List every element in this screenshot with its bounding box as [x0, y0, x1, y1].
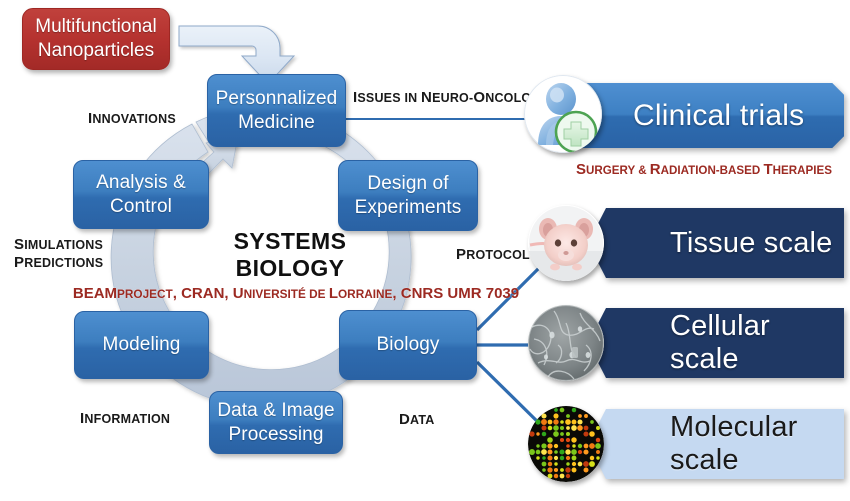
information-rest: NFORMATION: [84, 412, 170, 426]
project-credit-line: BEAMPROJECT, CRAN, UNIVERSITÉ DE LORRAIN…: [36, 285, 556, 302]
predictions-cap: P: [14, 254, 24, 271]
credit-univ-cap: U: [233, 285, 244, 302]
label-protocol: PROTOCOL: [456, 246, 530, 263]
sub-cap-r: R: [650, 161, 661, 178]
pm-line2: Medicine: [216, 111, 338, 134]
clinical-trials-subtitle: SURGERY & RADIATION-BASED THERAPIES: [576, 161, 832, 178]
sub-adiation: ADIATION-BASED: [661, 164, 764, 177]
data-cap: D: [399, 411, 410, 428]
doe-line1: Design of: [355, 172, 462, 195]
panel-molecular-scale[interactable]: Molecular scale: [588, 409, 844, 479]
center-title-line2: BIOLOGY: [200, 255, 380, 282]
ac-line2: Control: [96, 195, 186, 218]
nanoparticles-line1: Multifunctional: [35, 16, 156, 37]
credit-project: PROJECT: [117, 287, 173, 301]
issues-cap-n: N: [421, 89, 432, 106]
personnalized-medicine-box[interactable]: Personnalized Medicine: [207, 74, 346, 147]
predictions-rest: REDICTIONS: [24, 256, 103, 270]
patient-with-medical-cross-icon: [524, 75, 602, 153]
label-information: INFORMATION: [80, 410, 170, 427]
pm-line1: Personnalized: [216, 87, 338, 110]
data-rest: ATA: [410, 413, 434, 427]
label-innovations: INNOVATIONS: [88, 110, 176, 127]
biology-line1: Biology: [376, 333, 439, 356]
sub-cap-t: T: [763, 161, 772, 178]
issues-euro: EURO-: [432, 91, 473, 105]
design-of-experiments-box[interactable]: Design of Experiments: [338, 160, 478, 231]
modeling-line1: Modeling: [103, 333, 181, 356]
diagram-canvas: Multifunctional Nanoparticles Personnali…: [0, 0, 850, 501]
dna-microarray-photo: [528, 406, 604, 482]
center-title: SYSTEMS BIOLOGY: [200, 228, 380, 282]
ac-line1: Analysis &: [96, 171, 186, 194]
label-simulations-predictions: SIMULATIONS PREDICTIONS: [14, 236, 103, 273]
credit-cran: , CRAN,: [173, 285, 233, 302]
molecular-scale-label: Molecular scale: [588, 411, 844, 477]
sub-cap-s: S: [576, 161, 586, 178]
credit-univ-rest: NIVERSITÉ DE: [244, 287, 329, 301]
nanoparticles-line2: Nanoparticles: [38, 40, 154, 61]
connector-medicine-to-clinical: [346, 118, 546, 120]
label-data: DATA: [399, 411, 434, 428]
label-issues-in-neuro-oncology: ISSUES IN NEURO-ONCOLOGY: [353, 89, 550, 106]
credit-cnrs: , CNRS UMR 7039: [392, 285, 519, 302]
laboratory-mouse-photo: [528, 205, 604, 281]
sub-urgery: URGERY &: [586, 164, 650, 177]
simulations-cap: S: [14, 236, 24, 253]
issues-in: IN: [404, 91, 421, 105]
issues-cap-o: O: [473, 89, 485, 106]
biology-box[interactable]: Biology: [339, 310, 477, 380]
protocol-cap: P: [456, 246, 466, 263]
modeling-box[interactable]: Modeling: [74, 311, 209, 379]
dip-line2: Processing: [217, 423, 334, 446]
simulations-rest: IMULATIONS: [24, 238, 103, 252]
protocol-rest: ROTOCOL: [466, 248, 530, 262]
issues-rest: SSUES: [357, 91, 404, 105]
cellular-scale-label: Cellular scale: [588, 310, 844, 376]
tissue-scale-label: Tissue scale: [588, 227, 833, 260]
cell-microscopy-photo: [528, 305, 604, 381]
panel-cellular-scale[interactable]: Cellular scale: [588, 308, 844, 378]
dip-line1: Data & Image: [217, 399, 334, 422]
panel-tissue-scale[interactable]: Tissue scale: [588, 208, 844, 278]
innovations-rest: NNOVATIONS: [92, 112, 175, 126]
doe-line2: Experiments: [355, 196, 462, 219]
sub-herapies: HERAPIES: [773, 164, 832, 177]
credit-lorraine-cap: L: [329, 285, 338, 302]
data-image-processing-box[interactable]: Data & Image Processing: [209, 391, 343, 454]
center-title-line1: SYSTEMS: [200, 228, 380, 255]
credit-lorraine-rest: ORRAINE: [338, 287, 392, 301]
analysis-control-box[interactable]: Analysis & Control: [73, 160, 209, 229]
multifunctional-nanoparticles-box[interactable]: Multifunctional Nanoparticles: [22, 8, 170, 70]
credit-beam: BEAM: [73, 285, 117, 302]
